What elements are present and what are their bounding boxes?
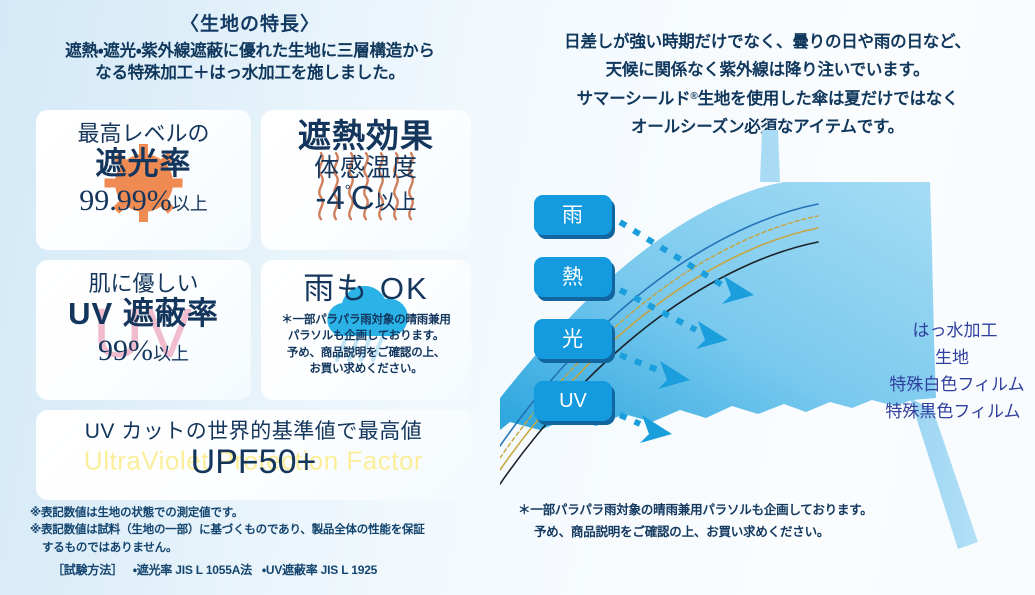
card-shakou-suffix: 以上 [172, 194, 208, 214]
right-lede-line3-b: 生地を使用した傘は夏だけではなく [698, 90, 959, 108]
chip-heat[interactable]: 熱 [534, 257, 612, 297]
feature-card-shakou: 最高レベルの 遮光率 99.99%以上 [36, 110, 251, 250]
card-shakou-value: 99.99% [79, 184, 172, 217]
card-rain-note: ＊一部パラパラ雨対象の晴雨兼用 パラソルも企画しております。 予め、商品説明をご… [261, 312, 471, 377]
card-shanetsu-unit: C [351, 179, 375, 216]
layer-label-list: はっ水加工 生地 特殊白色フィルム 特殊黒色フィルム [858, 318, 1035, 425]
heading-subtitle: 遮熱・遮光・紫外線遮蔽に優れた生地に三層構造から なる特殊加工＋はっ水加工を施し… [0, 40, 500, 86]
right-lede: 日差しが強い時期だけでなく、曇りの日や雨の日など、 天候に関係なく紫外線は降り注… [500, 28, 1035, 142]
heading-subtitle-line2: なる特殊加工＋はっ水加工を施しました。 [24, 62, 476, 85]
right-lede-line2: 天候に関係なく紫外線は降り注いでいます。 [500, 56, 1035, 84]
footnote-line2: ※表記数値は試料（生地の一部）に基づくものであり、製品全体の性能を保証 [30, 522, 490, 539]
card-rain-note-line2: パラソルも企画しております。 [269, 328, 463, 344]
heading-subtitle-line1: 遮熱・遮光・紫外線遮蔽に優れた生地に三層構造から [24, 40, 476, 63]
right-footnote: ＊一部パラパラ雨対象の晴雨兼用パラソルも企画しております。 予め、商品説明をご確… [518, 500, 988, 544]
layer-label-1: はっ水加工 [862, 318, 1035, 345]
footnote-line3: するものではありません。 [30, 540, 490, 557]
footnote-method-label: ［試験方法］ [52, 563, 123, 577]
right-footnote-line1: ＊一部パラパラ雨対象の晴雨兼用パラソルも企画しております。 [518, 500, 988, 522]
card-shanetsu-line1: 遮熱効果 [261, 110, 471, 155]
card-uv-value-row: 99%以上 [36, 334, 251, 367]
footnote-method: ［試験方法］・遮光率 JIS L 1055A法・UV遮蔽率 JIS L 1925 [30, 561, 490, 579]
footnote-method-1: ・遮光率 JIS L 1055A法 [133, 563, 252, 577]
layer-label-4: 特殊黒色フィルム [858, 399, 1035, 426]
feature-card-upf: UltraViolet Protection Factor UV カットの世界的… [36, 410, 471, 500]
card-uv-value: 99% [98, 334, 153, 367]
chip-light[interactable]: 光 [534, 319, 612, 359]
chip-rain-label: 雨 [562, 205, 584, 226]
chip-uv[interactable]: UV [534, 381, 612, 421]
footnote-line1: ※表記数値は生地の状態での測定値です。 [30, 505, 490, 522]
left-column: 〈生地の特長〉 遮熱・遮光・紫外線遮蔽に優れた生地に三層構造から なる特殊加工＋… [0, 0, 500, 595]
left-footnotes: ※表記数値は生地の状態での測定値です。 ※表記数値は試料（生地の一部）に基づくも… [30, 505, 490, 579]
card-shanetsu-suffix: 以上 [375, 191, 417, 214]
card-uv-line2: UV 遮蔽率 [36, 297, 251, 332]
feature-card-shanetsu: 遮熱効果 体感温度 -4°C以上 [261, 110, 471, 250]
chip-heat-label: 熱 [562, 267, 584, 288]
right-lede-line3-a: サマーシールド [577, 90, 691, 108]
card-shakou-value-row: 99.99%以上 [36, 184, 251, 217]
card-upf-line2: UPF50+ [36, 445, 471, 481]
incident-factor-chips: 雨 熱 光 UV [534, 195, 654, 443]
right-footnote-line2: 予め、商品説明をご確認の上、お買い求めください。 [518, 522, 988, 544]
page-title: 〈生地の特長〉 [0, 12, 500, 38]
right-lede-line1: 日差しが強い時期だけでなく、曇りの日や雨の日など、 [500, 28, 1035, 56]
chip-light-label: 光 [562, 329, 584, 350]
right-column: 日差しが強い時期だけでなく、曇りの日や雨の日など、 天候に関係なく紫外線は降り注… [500, 0, 1035, 595]
umbrella-finial [760, 130, 780, 182]
left-heading-block: 〈生地の特長〉 遮熱・遮光・紫外線遮蔽に優れた生地に三層構造から なる特殊加工＋… [0, 0, 500, 85]
card-rain-note-line3: 予め、商品説明をご確認の上、 [269, 345, 463, 361]
feature-card-uv: UV 肌に優しい UV 遮蔽率 99%以上 [36, 260, 251, 400]
registered-mark: ® [690, 91, 697, 102]
card-rain-note-line4: お買い求めください。 [269, 361, 463, 377]
chip-rain[interactable]: 雨 [534, 195, 612, 235]
card-shanetsu-value-row: -4°C以上 [261, 180, 471, 216]
feature-card-rain-ok: 雨も OK ＊一部パラパラ雨対象の晴雨兼用 パラソルも企画しております。 予め、… [261, 260, 471, 400]
card-uv-line1: 肌に優しい [36, 260, 251, 295]
fabric-feature-infographic: 〈生地の特長〉 遮熱・遮光・紫外線遮蔽に優れた生地に三層構造から なる特殊加工＋… [0, 0, 1035, 595]
right-lede-line3: サマーシールド®生地を使用した傘は夏だけではなく [500, 85, 1035, 113]
card-rain-line1: 雨も OK [261, 260, 471, 306]
card-shanetsu-value: -4 [315, 179, 344, 216]
card-upf-line1: UV カットの世界的基準値で最高値 [36, 410, 471, 443]
card-uv-suffix: 以上 [153, 344, 189, 364]
footnote-method-2: ・UV遮蔽率 JIS L 1925 [262, 563, 377, 577]
chip-uv-label: UV [559, 391, 587, 411]
layer-label-2: 生地 [856, 345, 1035, 372]
card-shakou-line2: 遮光率 [36, 147, 251, 182]
layer-label-3: 特殊白色フィルム [866, 372, 1035, 399]
card-rain-note-line1: ＊一部パラパラ雨対象の晴雨兼用 [269, 312, 463, 328]
card-shakou-line1: 最高レベルの [36, 110, 251, 145]
card-shanetsu-line2: 体感温度 [261, 155, 471, 183]
